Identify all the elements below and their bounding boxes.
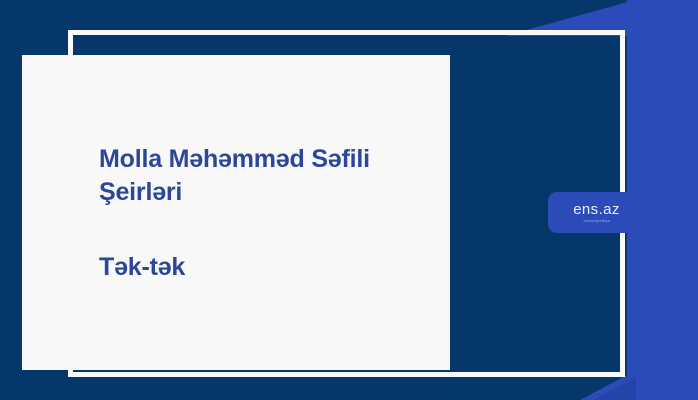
- content-card-text-block: Molla Məhəmməd Səfili Şeirləri Tək-tək: [99, 143, 428, 282]
- page-title: Molla Məhəmməd Səfili Şeirləri: [99, 143, 428, 210]
- poster-canvas: Molla Məhəmməd Səfili Şeirləri Tək-tək e…: [0, 0, 698, 400]
- poem-title: Tək-tək: [99, 252, 428, 282]
- ensaz-logo-badge[interactable]: ens.az ensiklopediya: [548, 192, 645, 233]
- ensaz-logo-wordmark: ens.az: [573, 202, 620, 217]
- content-card: Molla Məhəmməd Səfili Şeirləri Tək-tək: [22, 55, 450, 370]
- ensaz-logo-tagline: ensiklopediya: [583, 219, 609, 223]
